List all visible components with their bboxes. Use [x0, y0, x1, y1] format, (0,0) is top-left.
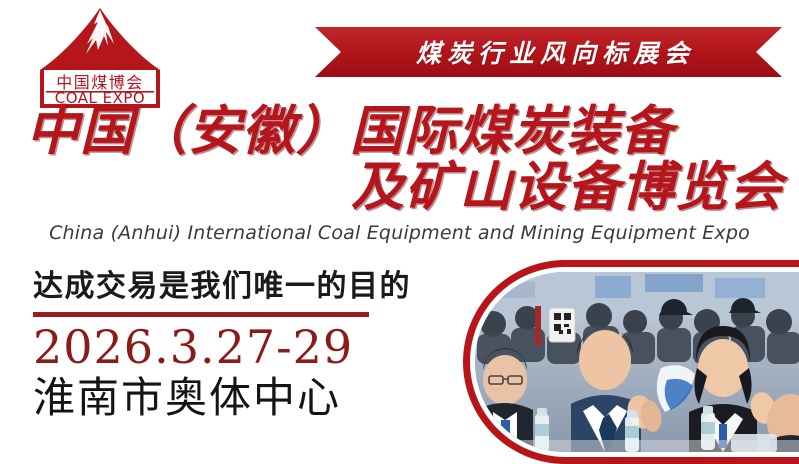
event-date: 2026.3.27-29: [33, 321, 383, 373]
event-info-block: 达成交易是我们唯一的目的 2026.3.27-29 淮南市奥体中心: [33, 268, 383, 423]
coal-expo-logo: 中国煤博会 COAL EXPO: [24, 4, 176, 108]
photo-image: [475, 272, 799, 452]
english-subtitle: China (Anhui) International Coal Equipme…: [0, 222, 799, 244]
photo-illustration-icon: [475, 272, 799, 452]
event-venue: 淮南市奥体中心: [33, 373, 383, 423]
mountain-logo-icon: 中国煤博会 COAL EXPO: [24, 4, 176, 108]
divider-rule: [33, 312, 369, 317]
ribbon-text: 煤炭行业风向标展会: [315, 27, 782, 77]
tagline-ribbon: 煤炭行业风向标展会: [315, 27, 782, 77]
main-title: 中国（安徽）国际煤炭装备 及矿山设备博览会: [0, 104, 799, 216]
title-line-2: 及矿山设备博览会: [0, 160, 799, 216]
title-line-1: 中国（安徽）国际煤炭装备: [0, 104, 799, 160]
poster-root: 中国煤博会 COAL EXPO 煤炭行业风向标展会 中国（安徽）国际煤炭装备 及…: [0, 0, 799, 464]
slogan-text: 达成交易是我们唯一的目的: [33, 268, 383, 306]
audience-photo: [463, 260, 799, 464]
